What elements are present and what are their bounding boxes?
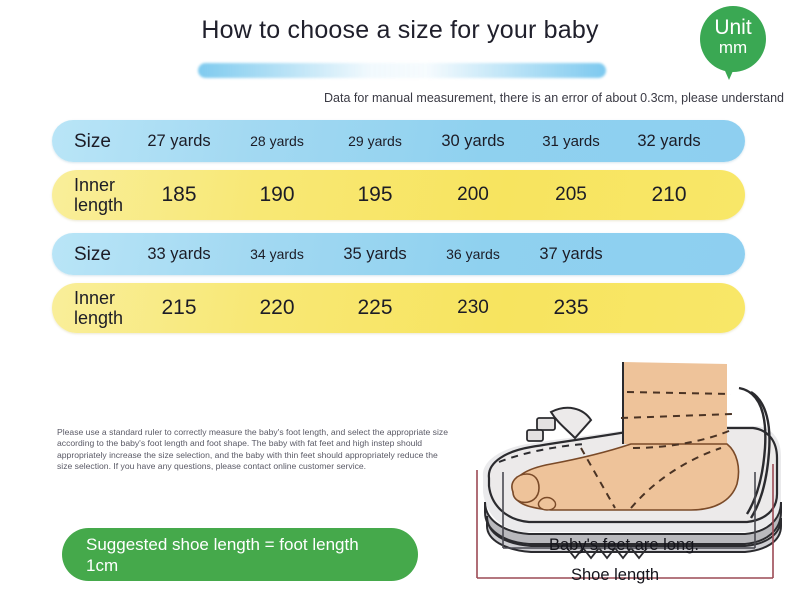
length-cell: 210: [620, 183, 718, 207]
size-cell: 33 yards: [130, 245, 228, 264]
buckle-lower: [527, 430, 543, 441]
size-row-1: Size 27 yards 28 yards 29 yards 30 yards…: [52, 120, 745, 162]
size-cell: 31 yards: [522, 133, 620, 150]
size-cell: 28 yards: [228, 133, 326, 149]
size-cell: 27 yards: [130, 132, 228, 151]
size-cell: 29 yards: [326, 133, 424, 149]
buckle: [537, 418, 555, 430]
row-label-size-1: Size: [52, 132, 130, 151]
suggestion-line-1: Suggested shoe length = foot length: [86, 535, 359, 554]
size-row-2: Size 33 yards 34 yards 35 yards 36 yards…: [52, 233, 745, 275]
length-cell: 190: [228, 183, 326, 207]
page-title: How to choose a size for your baby: [185, 16, 614, 45]
row-label-inner-length-1: Inner length: [52, 175, 130, 215]
row-label-line2: length: [74, 195, 123, 215]
shoe-strap: [551, 408, 591, 438]
leg-skin: [623, 362, 727, 444]
length-cell: 215: [130, 296, 228, 320]
size-cell: 36 yards: [424, 246, 522, 262]
size-cell: 30 yards: [424, 132, 522, 151]
unit-badge-label: Unit: [700, 6, 766, 39]
size-cell: 35 yards: [326, 245, 424, 264]
row-label-inner-length-2: Inner length: [52, 288, 130, 328]
unit-badge-value: mm: [700, 39, 766, 56]
length-cell: 205: [522, 184, 620, 206]
big-toe: [512, 474, 539, 502]
small-toe: [538, 498, 555, 511]
unit-badge: Unit mm: [700, 6, 766, 72]
measuring-instructions: Please use a standard ruler to correctly…: [57, 427, 449, 473]
title-block: How to choose a size for your baby: [0, 16, 800, 45]
size-chart-page: How to choose a size for your baby Unit …: [0, 0, 800, 606]
suggested-length-banner: Suggested shoe length = foot length 1cm: [62, 528, 418, 581]
row-label-size-2: Size: [52, 245, 130, 264]
shoe-illustration: [455, 352, 800, 602]
suggestion-line-2: 1cm: [86, 556, 118, 575]
shoe-length-label: Shoe length: [571, 566, 659, 585]
size-cell: 37 yards: [522, 245, 620, 264]
length-cell: 230: [424, 297, 522, 319]
inner-length-row-2: Inner length 215 220 225 230 235: [52, 283, 745, 333]
size-cell: 34 yards: [228, 246, 326, 262]
length-cell: 185: [130, 183, 228, 207]
length-cell: 220: [228, 296, 326, 320]
inner-length-row-1: Inner length 185 190 195 200 205 210: [52, 170, 745, 220]
row-label-line2: length: [74, 308, 123, 328]
row-label-line1: Inner: [74, 288, 115, 308]
measurement-note: Data for manual measurement, there is an…: [0, 91, 784, 105]
length-cell: 195: [326, 183, 424, 207]
foot-length-label: Baby's feet are long.: [549, 536, 699, 555]
shoe-measurement-diagram: [455, 352, 800, 602]
size-cell: 32 yards: [620, 132, 718, 151]
row-label-line1: Inner: [74, 175, 115, 195]
length-cell: 200: [424, 184, 522, 206]
title-underline: [198, 63, 606, 78]
length-cell: 235: [522, 296, 620, 320]
length-cell: 225: [326, 296, 424, 320]
